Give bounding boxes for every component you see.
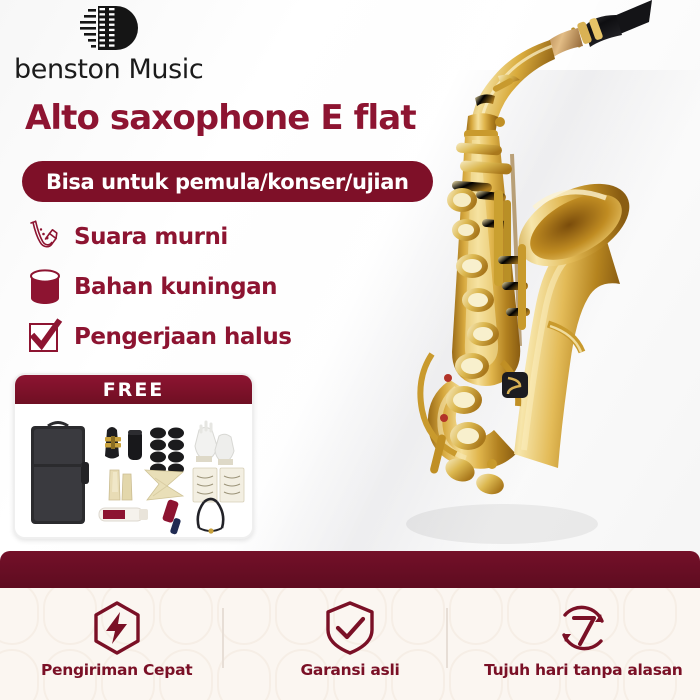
trust-badge-label: Garansi asli <box>301 661 400 679</box>
free-banner: FREE <box>15 375 252 404</box>
acc-mouthpiece-cap <box>128 430 142 460</box>
free-accessories-box: FREE <box>13 373 254 539</box>
acc-gloves <box>195 422 234 465</box>
acc-cleaning-swab <box>162 499 181 535</box>
badge-divider-2 <box>446 608 448 668</box>
grand-piano-icon <box>68 4 140 52</box>
trust-badges: Pengiriman Cepat Garansi asli <box>0 588 700 700</box>
acc-cards <box>193 468 244 502</box>
sax-neck <box>472 40 555 125</box>
feature-item-pengerjaan-halus: Pengerjaan halus <box>22 312 352 362</box>
footer-trust-section: Pengiriman Cepat Garansi asli <box>0 588 700 700</box>
footer-accent-bar <box>0 551 700 588</box>
sax-receiver <box>464 113 505 139</box>
saxophone-icon <box>22 215 68 259</box>
product-advertisement-page: benston Music Alto saxophone E flat Bisa… <box>0 0 700 700</box>
feature-list: Suara murni Bahan kuningan Pengerjaan ha… <box>22 212 352 362</box>
trust-badge-label: Pengiriman Cepat <box>41 661 192 679</box>
accessories-illustration <box>15 404 252 535</box>
brand-name: benston Music <box>14 54 314 85</box>
checkbox-check-icon <box>22 315 68 359</box>
feature-item-suara-murni: Suara murni <box>22 212 352 262</box>
saxophone-product-image <box>352 0 700 560</box>
lightning-hexagon-icon <box>88 599 146 657</box>
trust-badge-garansi-asli: Garansi asli <box>233 588 466 679</box>
brand-logo-block: benston Music <box>14 4 314 85</box>
feature-label: Pengerjaan halus <box>74 324 291 350</box>
feature-item-bahan-kuningan: Bahan kuningan <box>22 262 352 312</box>
acc-polishing-cloth <box>145 470 183 500</box>
acc-hard-case <box>31 423 89 525</box>
seven-day-return-icon <box>554 599 612 657</box>
badge-divider-1 <box>222 608 224 668</box>
sax-mouthpiece <box>571 0 652 48</box>
feature-label: Suara murni <box>74 224 228 250</box>
brass-cylinder-icon <box>22 265 68 309</box>
acc-neck-strap <box>198 499 223 531</box>
acc-cork-grease <box>99 508 148 521</box>
acc-mouthpiece <box>105 427 121 459</box>
trust-badge-tujuh-hari: Tujuh hari tanpa alasan <box>467 588 700 679</box>
trust-badge-pengiriman-cepat: Pengiriman Cepat <box>0 588 233 679</box>
acc-reeds <box>109 470 132 500</box>
free-accessories-body <box>15 404 252 535</box>
feature-label: Bahan kuningan <box>74 274 277 300</box>
acc-pads <box>150 428 184 475</box>
shield-check-icon <box>321 599 379 657</box>
free-banner-label: FREE <box>103 379 165 401</box>
trust-badge-label: Tujuh hari tanpa alasan <box>484 661 682 679</box>
